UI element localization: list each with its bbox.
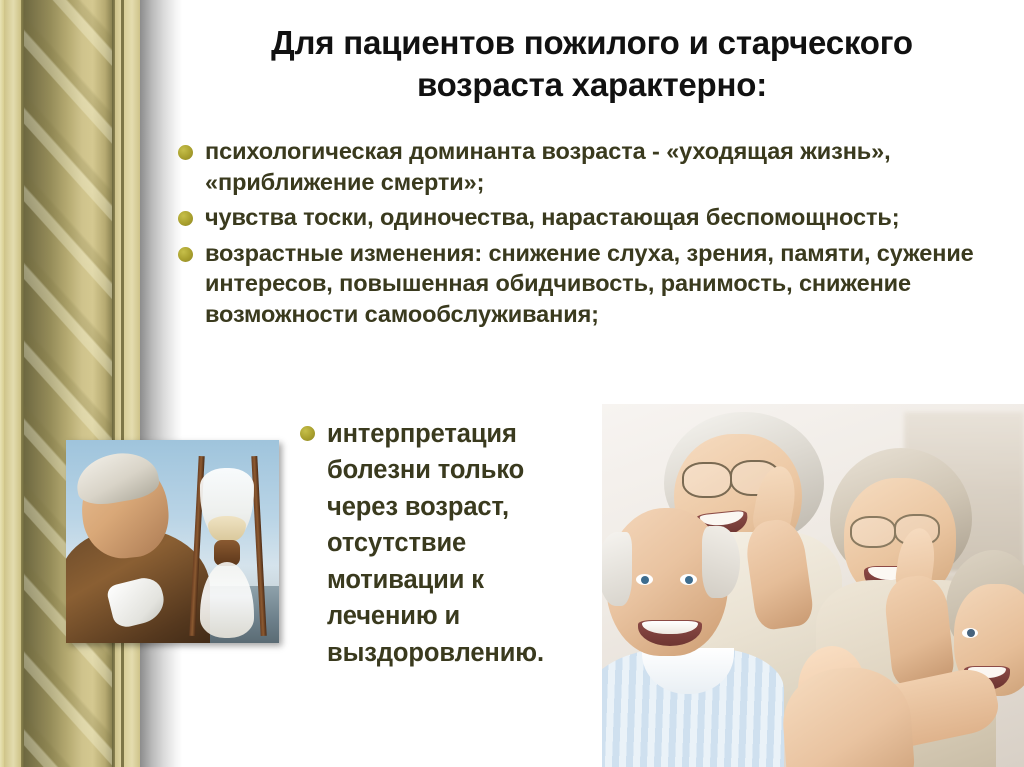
- photo-person1-pupil-left: [641, 576, 649, 584]
- photo-person1-pupil-right: [685, 576, 693, 584]
- border-band-pale-gold: [4, 0, 21, 767]
- bullet-item-1: психологическая доминанта возраста - «ух…: [178, 136, 978, 197]
- bullet-item-2-label: чувства тоски, одиночества, нарастающая …: [205, 202, 899, 233]
- bullet-item-2: чувства тоски, одиночества, нарастающая …: [178, 202, 978, 233]
- bullet-dot-icon: [300, 426, 315, 441]
- slide-title-line-2: возраста характерно:: [182, 64, 1002, 106]
- photo-person3-glasses-left: [850, 516, 896, 548]
- border-diagonal-stripes: [24, 0, 112, 767]
- border-band-gold-wide: [124, 0, 140, 767]
- elderly-man-hourglass-photo: [66, 440, 279, 643]
- decorative-left-border: [0, 0, 182, 767]
- bullet-list: психологическая доминанта возраста - «ух…: [178, 136, 978, 334]
- bullet-item-1-label: психологическая доминанта возраста - «ух…: [205, 136, 978, 197]
- slide-title: Для пациентов пожилого и старческого воз…: [182, 22, 1002, 106]
- photo-person4-pupil: [967, 629, 975, 637]
- border-band-grey-fade: [140, 0, 182, 767]
- bullet-item-3: возрастные изменения: снижение слуха, зр…: [178, 238, 978, 330]
- bullet-item-4: интерпретация болезни только через возра…: [300, 416, 600, 671]
- bullet-item-4-label: интерпретация болезни только через возра…: [327, 416, 600, 671]
- bullet-dot-icon: [178, 211, 193, 226]
- photo-person2-glasses-left: [682, 462, 732, 498]
- photo-person1-hair-right: [702, 526, 740, 598]
- presentation-slide: Для пациентов пожилого и старческого воз…: [0, 0, 1024, 767]
- slide-title-line-1: Для пациентов пожилого и старческого: [182, 22, 1002, 64]
- photo-person1-hair-left: [602, 532, 632, 606]
- bullet-item-3-label: возрастные изменения: снижение слуха, зр…: [205, 238, 978, 330]
- bullet-dot-icon: [178, 247, 193, 262]
- bullet-dot-icon: [178, 145, 193, 160]
- smiling-seniors-thumbs-up-photo: [602, 404, 1024, 767]
